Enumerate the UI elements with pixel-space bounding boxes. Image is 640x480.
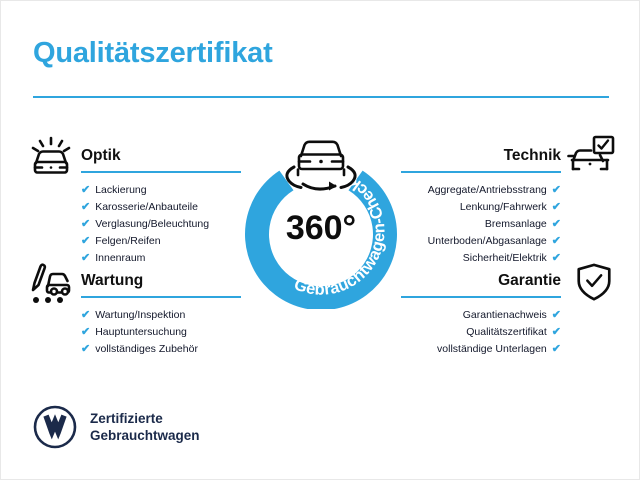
list-item-label: Wartung/Inspektion [95, 307, 185, 323]
list-item: Aggregate/Antriebsstrang ✔ [401, 182, 561, 198]
list-item-label: Verglasung/Beleuchtung [95, 216, 209, 232]
list-item: Unterboden/Abgasanlage ✔ [401, 233, 561, 249]
section-garantie: Garantie Garantienachweis ✔ Qualitätszer… [401, 271, 561, 358]
list-item: ✔ Karosserie/Anbauteile [81, 199, 251, 215]
list-item-label: Lenkung/Fahrwerk [460, 199, 547, 215]
check-icon: ✔ [552, 233, 561, 249]
list-item-label: Innenraum [95, 250, 145, 266]
section-divider [81, 296, 241, 298]
check-icon: ✔ [552, 324, 561, 340]
section-divider [81, 171, 241, 173]
checklist: Garantienachweis ✔ Qualitätszertifikat ✔… [401, 307, 561, 357]
check-icon: ✔ [81, 216, 90, 232]
check-icon: ✔ [552, 341, 561, 357]
car-checkbox-icon [567, 135, 615, 177]
checklist: ✔ Lackierung ✔ Karosserie/Anbauteile ✔ V… [81, 182, 251, 266]
section-technik: Technik Aggregate/Antriebsstrang ✔ Lenku… [401, 146, 561, 267]
shield-check-icon [572, 262, 620, 304]
check-icon: ✔ [81, 199, 90, 215]
footer-logo-line1: Zertifizierte [90, 410, 200, 427]
list-item-label: Bremsanlage [485, 216, 547, 232]
check-icon: ✔ [81, 182, 90, 198]
section-title: Optik [81, 146, 251, 166]
list-item-label: Unterboden/Abgasanlage [428, 233, 547, 249]
section-title: Garantie [401, 271, 561, 291]
title-divider [33, 96, 609, 98]
section-header: Optik [81, 146, 251, 176]
section-title: Technik [401, 146, 561, 166]
car-shine-icon [27, 135, 75, 177]
footer-logo-text: Zertifizierte Gebrauchtwagen [90, 410, 200, 444]
list-item: ✔ Felgen/Reifen [81, 233, 251, 249]
section-header: Wartung [81, 271, 251, 301]
checklist: ✔ Wartung/Inspektion ✔ Hauptuntersuchung… [81, 307, 251, 357]
badge-center-label: 360° [286, 209, 356, 247]
list-item-label: vollständiges Zubehör [95, 341, 198, 357]
list-item: Bremsanlage ✔ [401, 216, 561, 232]
list-item: Sicherheit/Elektrik ✔ [401, 250, 561, 266]
list-item-label: Qualitätszertifikat [466, 324, 547, 340]
check-icon: ✔ [552, 216, 561, 232]
check-icon: ✔ [552, 199, 561, 215]
list-item-label: vollständige Unterlagen [437, 341, 547, 357]
section-divider [401, 296, 561, 298]
section-header: Garantie [401, 271, 561, 301]
list-item: ✔ Verglasung/Beleuchtung [81, 216, 251, 232]
check-icon: ✔ [552, 250, 561, 266]
list-item-label: Garantienachweis [463, 307, 547, 323]
footer-logo: Zertifizierte Gebrauchtwagen [33, 405, 200, 449]
list-item: vollständige Unterlagen ✔ [401, 341, 561, 357]
check-icon: ✔ [81, 341, 90, 357]
check-icon: ✔ [81, 324, 90, 340]
list-item: Lenkung/Fahrwerk ✔ [401, 199, 561, 215]
car-rotate-icon [287, 142, 355, 191]
volkswagen-logo [33, 405, 77, 449]
section-title: Wartung [81, 271, 251, 291]
check-icon: ✔ [552, 182, 561, 198]
list-item: ✔ Innenraum [81, 250, 251, 266]
car-service-icon [27, 260, 75, 302]
section-optik: Optik ✔ Lackierung ✔ Karosserie/Anbautei… [81, 146, 251, 267]
checklist: Aggregate/Antriebsstrang ✔ Lenkung/Fahrw… [401, 182, 561, 266]
check-icon: ✔ [81, 307, 90, 323]
check-icon: ✔ [81, 250, 90, 266]
list-item: ✔ Wartung/Inspektion [81, 307, 251, 323]
check-icon: ✔ [552, 307, 561, 323]
list-item: ✔ vollständiges Zubehör [81, 341, 251, 357]
check-icon: ✔ [81, 233, 90, 249]
list-item-label: Aggregate/Antriebsstrang [428, 182, 547, 198]
list-item-label: Sicherheit/Elektrik [463, 250, 547, 266]
list-item: ✔ Lackierung [81, 182, 251, 198]
section-divider [401, 171, 561, 173]
360-check-badge: Gebrauchtwagen-Check 360° [239, 123, 403, 309]
list-item: Qualitätszertifikat ✔ [401, 324, 561, 340]
page-title: Qualitätszertifikat [33, 37, 273, 70]
section-header: Technik [401, 146, 561, 176]
list-item: Garantienachweis ✔ [401, 307, 561, 323]
list-item-label: Felgen/Reifen [95, 233, 160, 249]
list-item-label: Hauptuntersuchung [95, 324, 187, 340]
list-item-label: Lackierung [95, 182, 146, 198]
list-item: ✔ Hauptuntersuchung [81, 324, 251, 340]
certificate-page: Qualitätszertifikat Optik ✔ Lackierung [0, 0, 640, 480]
footer-logo-line2: Gebrauchtwagen [90, 427, 200, 444]
list-item-label: Karosserie/Anbauteile [95, 199, 198, 215]
section-wartung: Wartung ✔ Wartung/Inspektion ✔ Hauptunte… [81, 271, 251, 358]
